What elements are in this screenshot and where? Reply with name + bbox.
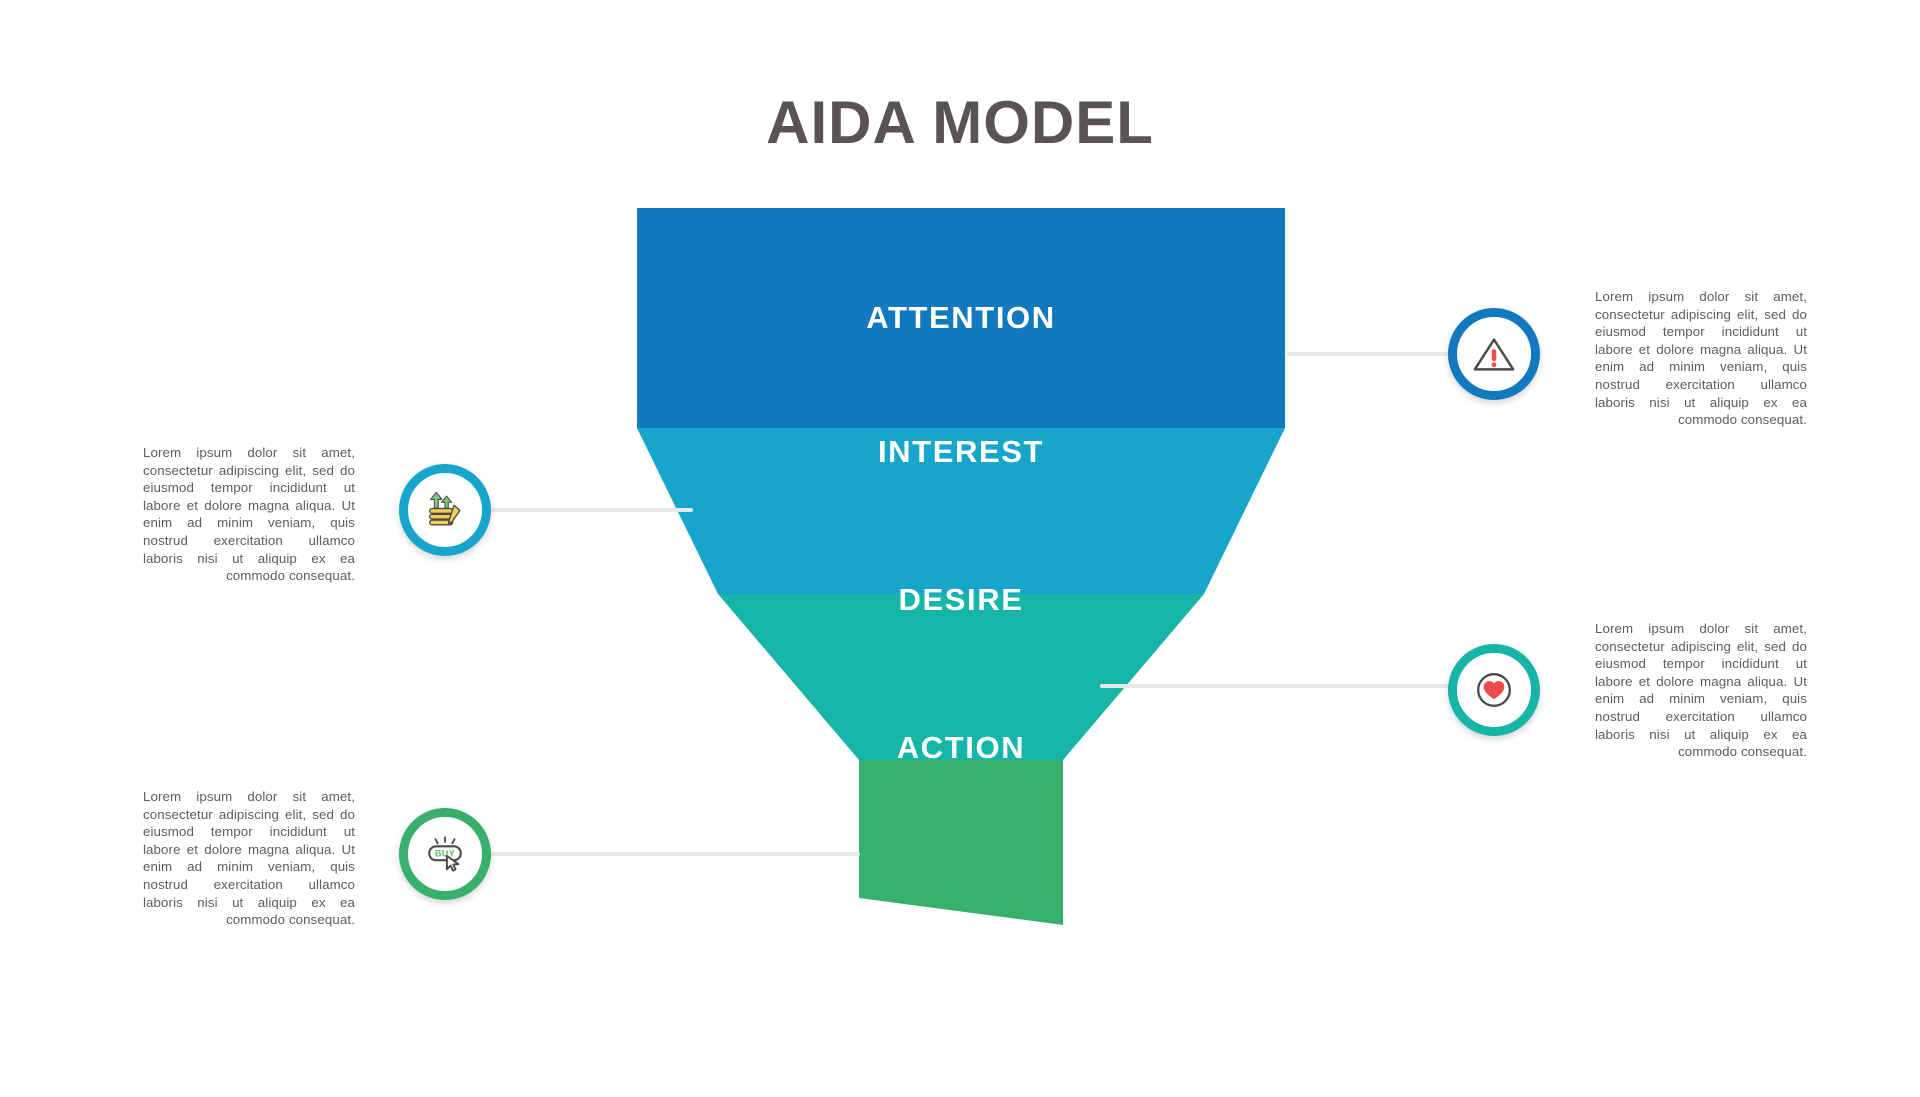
page-title: AIDA MODEL: [0, 88, 1920, 157]
badge-interest[interactable]: [399, 464, 491, 556]
connector-line-action: [485, 852, 860, 856]
description-desire: Lorem ipsum dolor sit amet, consectetur …: [1595, 620, 1807, 761]
buy-button-click-icon: BUY: [422, 831, 468, 877]
heart-icon: [1471, 667, 1517, 713]
growth-coins-icon: [422, 487, 468, 533]
svg-text:BUY: BUY: [435, 848, 455, 858]
badge-action[interactable]: BUY: [399, 808, 491, 900]
funnel-label-action: ACTION: [897, 730, 1025, 766]
connector-line-attention: [1287, 352, 1455, 356]
description-interest: Lorem ipsum dolor sit amet, consectetur …: [143, 444, 355, 585]
funnel-segment-action: [859, 760, 1063, 925]
badge-desire[interactable]: [1448, 644, 1540, 736]
connector-line-interest: [485, 508, 693, 512]
connector-line-desire: [1100, 684, 1455, 688]
funnel-label-interest: INTEREST: [878, 434, 1044, 470]
description-action: Lorem ipsum dolor sit amet, consectetur …: [143, 788, 355, 929]
funnel-label-attention: ATTENTION: [866, 300, 1055, 336]
badge-attention[interactable]: [1448, 308, 1540, 400]
description-attention: Lorem ipsum dolor sit amet, consectetur …: [1595, 288, 1807, 429]
funnel-label-desire: DESIRE: [898, 582, 1023, 618]
warning-triangle-icon: [1471, 331, 1517, 377]
infographic-canvas: AIDA MODEL ATTENTION INTEREST DESIRE ACT…: [0, 0, 1920, 1097]
